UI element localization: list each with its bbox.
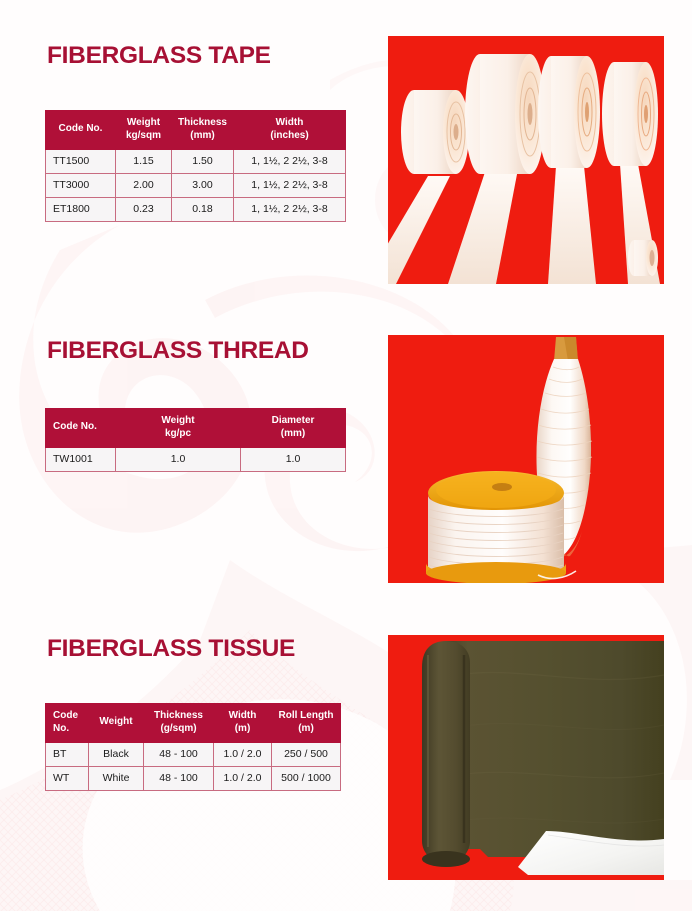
- table-row: TT1500 1.15 1.50 1, 1½, 2 2½, 3-8: [46, 149, 346, 173]
- page-title-fiberglass-thread: FIBERGLASS THREAD: [47, 337, 309, 365]
- table-header-row: Code No. Weight Thickness (g/sqm) Width: [46, 704, 341, 743]
- column-header-diameter: Diameter (mm): [241, 409, 346, 448]
- cell-width: 1, 1½, 2 2½, 3-8: [234, 173, 346, 197]
- table-row: WT White 48 - 100 1.0 / 2.0 500 / 1000: [46, 766, 341, 790]
- cell-thickness: 3.00: [172, 173, 234, 197]
- section-fiberglass-thread: FIBERGLASS THREAD Code No. Weight kg/pc: [0, 295, 692, 590]
- column-header-code-no: Code No.: [46, 111, 116, 150]
- fiberglass-thread-photo: [388, 335, 664, 583]
- header-line-1: Weight: [99, 716, 132, 727]
- cell-thickness: 48 - 100: [144, 742, 214, 766]
- fiberglass-tape-photo: [388, 36, 664, 284]
- fiberglass-tape-spec-table: Code No. Weight kg/sqm Thickness (mm) Wi…: [45, 110, 346, 222]
- fiberglass-tissue-spec-table: Code No. Weight Thickness (g/sqm) Width: [45, 703, 341, 791]
- fiberglass-tissue-photo: [388, 635, 664, 880]
- cell-weight: 2.00: [116, 173, 172, 197]
- table-header-row: Code No. Weight kg/pc Diameter (mm): [46, 409, 346, 448]
- header-line-2: No.: [53, 723, 69, 734]
- cell-thickness: 0.18: [172, 197, 234, 221]
- cell-code-no: TT1500: [46, 149, 116, 173]
- header-line-2: (mm): [281, 428, 305, 439]
- column-header-code-no: Code No.: [46, 704, 89, 743]
- table-row: ET1800 0.23 0.18 1, 1½, 2 2½, 3-8: [46, 197, 346, 221]
- header-line-1: Diameter: [272, 415, 315, 426]
- column-header-roll-length: Roll Length (m): [272, 704, 341, 743]
- fiberglass-thread-spec-table: Code No. Weight kg/pc Diameter (mm): [45, 408, 346, 472]
- cell-width: 1.0 / 2.0: [214, 742, 272, 766]
- cell-weight: 1.15: [116, 149, 172, 173]
- column-header-code-no: Code No.: [46, 409, 116, 448]
- cell-thickness: 48 - 100: [144, 766, 214, 790]
- column-header-thickness: Thickness (mm): [172, 111, 234, 150]
- header-line-1: Width: [276, 117, 304, 128]
- header-line-1: Code No.: [59, 123, 103, 134]
- cell-width: 1, 1½, 2 2½, 3-8: [234, 197, 346, 221]
- column-header-weight: Weight kg/sqm: [116, 111, 172, 150]
- header-line-1: Weight: [127, 117, 160, 128]
- cell-code-no: TW1001: [46, 447, 116, 471]
- header-line-1: Code No.: [53, 421, 97, 432]
- column-header-width: Width (inches): [234, 111, 346, 150]
- cell-code-no: ET1800: [46, 197, 116, 221]
- cell-code-no: BT: [46, 742, 89, 766]
- header-line-2: kg/sqm: [126, 130, 161, 141]
- header-line-1: Weight: [161, 415, 194, 426]
- cell-roll-length: 250 / 500: [272, 742, 341, 766]
- header-line-2: (g/sqm): [160, 723, 196, 734]
- cell-weight: 0.23: [116, 197, 172, 221]
- section-fiberglass-tissue: FIBERGLASS TISSUE Code No. Weight: [0, 590, 692, 911]
- page-content: FIBERGLASS TAPE Code No. Weight kg/sqm: [0, 0, 692, 911]
- header-line-1: Code: [53, 710, 78, 721]
- column-header-width: Width (m): [214, 704, 272, 743]
- table-row: TW1001 1.0 1.0: [46, 447, 346, 471]
- catalog-page: FIBERGLASS TAPE Code No. Weight kg/sqm: [0, 0, 692, 911]
- cell-weight: White: [89, 766, 144, 790]
- cell-weight: Black: [89, 742, 144, 766]
- header-line-1: Thickness: [178, 117, 227, 128]
- header-line-2: (m): [298, 723, 314, 734]
- cell-width: 1.0 / 2.0: [214, 766, 272, 790]
- cell-roll-length: 500 / 1000: [272, 766, 341, 790]
- header-line-2: (inches): [270, 130, 308, 141]
- header-line-1: Roll Length: [279, 710, 334, 721]
- section-fiberglass-tape: FIBERGLASS TAPE Code No. Weight kg/sqm: [0, 0, 692, 290]
- cell-code-no: WT: [46, 766, 89, 790]
- header-line-1: Width: [229, 710, 257, 721]
- page-title-fiberglass-tape: FIBERGLASS TAPE: [47, 42, 271, 70]
- column-header-weight: Weight: [89, 704, 144, 743]
- header-line-2: (m): [235, 723, 251, 734]
- header-line-1: Thickness: [154, 710, 203, 721]
- table-header-row: Code No. Weight kg/sqm Thickness (mm) Wi…: [46, 111, 346, 150]
- header-line-2: (mm): [190, 130, 214, 141]
- page-title-fiberglass-tissue: FIBERGLASS TISSUE: [47, 635, 295, 663]
- header-line-2: kg/pc: [165, 428, 191, 439]
- column-header-weight: Weight kg/pc: [116, 409, 241, 448]
- column-header-thickness: Thickness (g/sqm): [144, 704, 214, 743]
- cell-thickness: 1.50: [172, 149, 234, 173]
- cell-weight: 1.0: [116, 447, 241, 471]
- table-row: BT Black 48 - 100 1.0 / 2.0 250 / 500: [46, 742, 341, 766]
- cell-width: 1, 1½, 2 2½, 3-8: [234, 149, 346, 173]
- cell-diameter: 1.0: [241, 447, 346, 471]
- cell-code-no: TT3000: [46, 173, 116, 197]
- table-row: TT3000 2.00 3.00 1, 1½, 2 2½, 3-8: [46, 173, 346, 197]
